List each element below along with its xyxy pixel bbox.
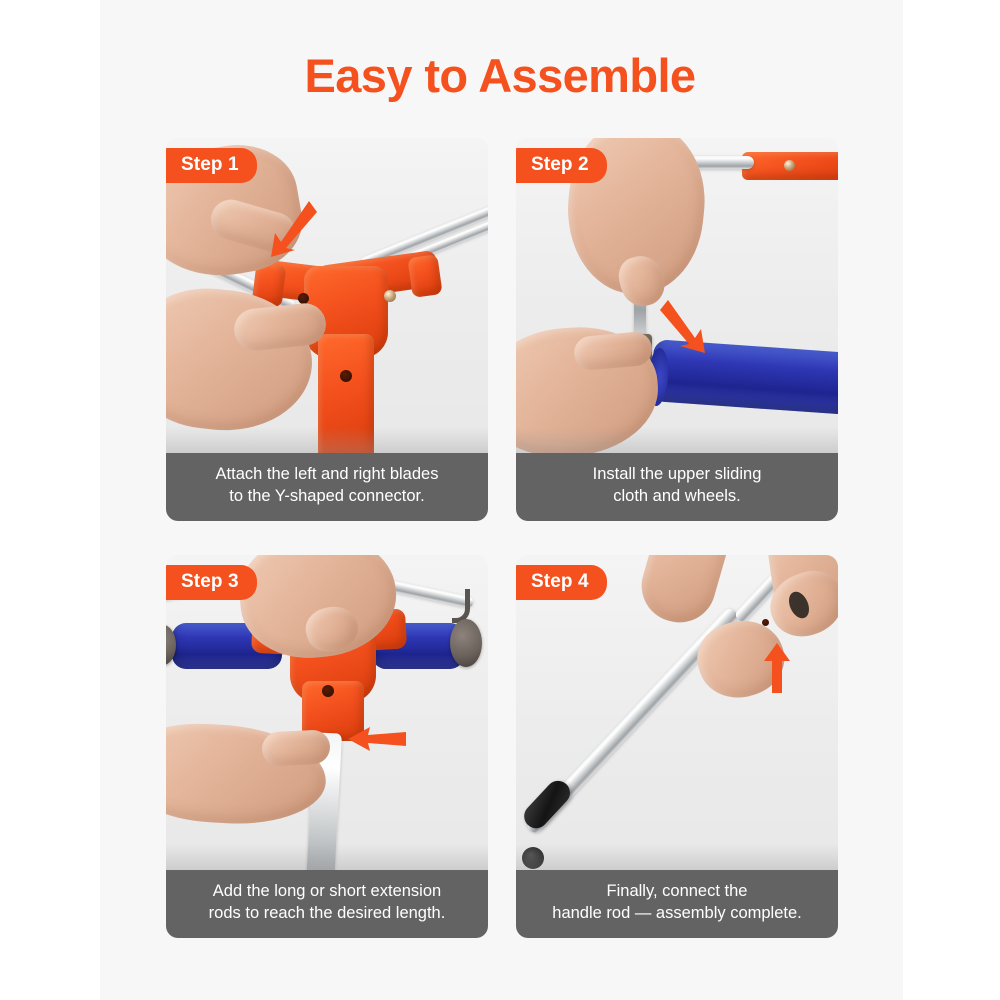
step-2-photo <box>516 138 838 453</box>
page-title: Easy to Assemble <box>0 48 1000 103</box>
photo-floor-shadow <box>166 844 488 870</box>
step-card-1[interactable]: Step 1 Attach the left and right blades … <box>166 138 488 521</box>
arrow-up-icon <box>760 641 794 695</box>
arch-rod-hook <box>452 589 470 623</box>
arrow-left-icon <box>346 723 408 755</box>
wheel-right <box>450 619 482 667</box>
y-connector-right-socket <box>407 254 442 298</box>
step-caption-2: Install the upper sliding cloth and whee… <box>516 453 838 521</box>
step-badge-1: Step 1 <box>166 148 257 183</box>
step-badge-2: Step 2 <box>516 148 607 183</box>
step-caption-3: Add the long or short extension rods to … <box>166 870 488 938</box>
infographic-page: Easy to Assemble <box>0 0 1000 1000</box>
step-caption-1: Attach the left and right blades to the … <box>166 453 488 521</box>
step-card-3[interactable]: Step 3 Add the long or short extension r… <box>166 555 488 938</box>
step-card-4[interactable]: Step 4 Finally, connect the handle rod —… <box>516 555 838 938</box>
photo-floor-shadow <box>166 427 488 453</box>
photo-floor-shadow <box>516 844 838 870</box>
connector-hole-stem <box>340 370 352 382</box>
step-4-photo <box>516 555 838 870</box>
step-card-2[interactable]: Step 2 Install the upper sliding cloth a… <box>516 138 838 521</box>
head-stem-hole <box>322 685 334 697</box>
arrow-down-right-icon <box>656 296 714 356</box>
connector-screw-right <box>384 290 396 302</box>
step-1-photo <box>166 138 488 453</box>
finger-bottom-3 <box>261 729 331 767</box>
steps-grid: Step 1 Attach the left and right blades … <box>166 138 838 938</box>
step-badge-4: Step 4 <box>516 565 607 600</box>
photo-floor-shadow <box>516 427 838 453</box>
arrow-down-left-icon <box>262 198 320 260</box>
handle-black-grip <box>519 776 575 833</box>
step-3-photo <box>166 555 488 870</box>
upper-sleeve-screw <box>784 160 795 171</box>
step-caption-4: Finally, connect the handle rod — assemb… <box>516 870 838 938</box>
step-badge-3: Step 3 <box>166 565 257 600</box>
